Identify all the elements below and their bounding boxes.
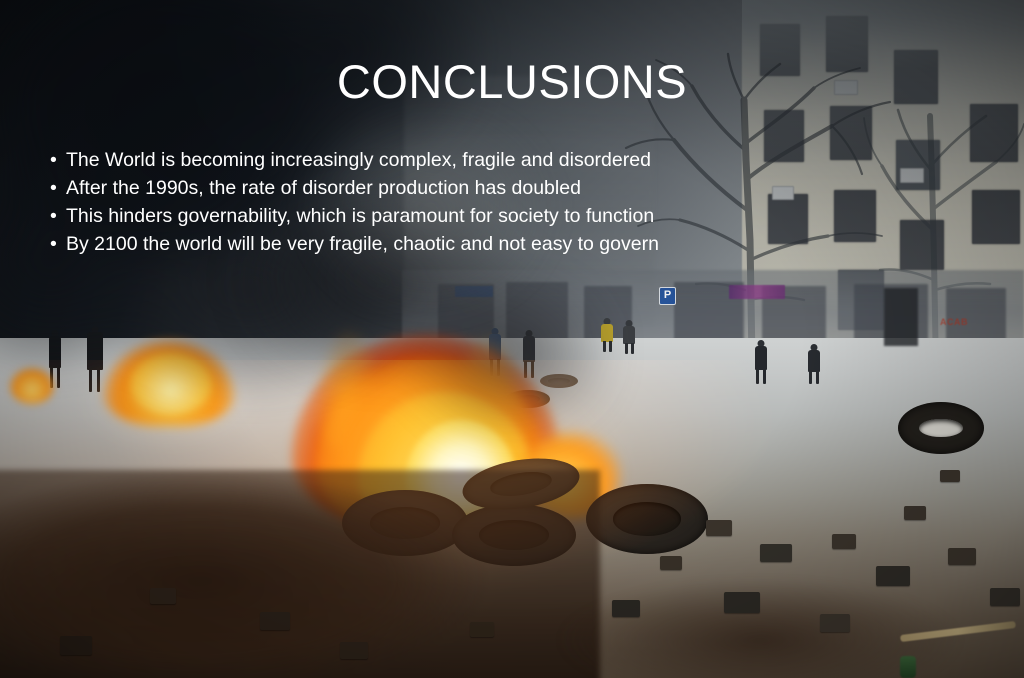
wooden-stick — [900, 621, 1016, 642]
person-silhouette — [46, 330, 64, 388]
secondary-fire-glow — [60, 330, 320, 470]
flame-core — [406, 420, 516, 516]
bullet-list: The World is becoming increasingly compl… — [46, 146, 786, 258]
tire — [154, 390, 200, 410]
tire — [506, 390, 550, 408]
rubble — [990, 588, 1020, 606]
bullet-item: This hinders governability, which is par… — [46, 202, 786, 230]
rubble — [340, 642, 368, 659]
flame-outer — [292, 334, 560, 534]
tire — [452, 504, 576, 566]
shop-sign-magenta — [729, 285, 785, 299]
flame-mid — [316, 356, 546, 536]
building-window — [830, 106, 872, 160]
presentation-slide: P ACAB — [0, 0, 1024, 678]
bare-tree-secondary — [848, 80, 1024, 370]
building-window — [834, 190, 876, 242]
rubble — [706, 520, 732, 536]
secondary-flame — [104, 340, 234, 426]
rubble — [904, 506, 926, 520]
parking-sign-icon: P — [659, 287, 676, 305]
person-silhouette — [622, 320, 636, 354]
main-fire-glow — [230, 300, 690, 630]
slide-title: CONCLUSIONS — [0, 58, 1024, 105]
shop-window — [946, 288, 1006, 342]
graffiti-text: ACAB — [940, 318, 974, 344]
building-window — [900, 220, 944, 270]
rubble — [150, 588, 176, 604]
shopfront-row — [402, 270, 1024, 362]
flame-inner — [358, 392, 534, 534]
flame-tongue-right — [452, 336, 524, 466]
person-silhouette — [752, 340, 770, 384]
person-silhouette — [600, 318, 614, 352]
tire — [540, 374, 578, 388]
snow-ground — [0, 338, 1024, 678]
rubble — [948, 548, 976, 565]
person-silhouette — [84, 326, 106, 392]
glass-bottle — [900, 656, 916, 678]
rubble — [760, 544, 792, 562]
rubble — [820, 614, 850, 632]
shop-sign-blue — [455, 286, 493, 297]
building-window — [896, 140, 940, 190]
rubble — [724, 592, 760, 613]
tire — [898, 402, 984, 454]
rubble — [660, 556, 682, 570]
mud-patch — [0, 470, 600, 678]
building-entrance — [838, 270, 884, 330]
rubble — [60, 636, 92, 655]
firelight-ground-wash — [0, 360, 1024, 678]
building-window — [970, 104, 1018, 162]
tire — [586, 484, 708, 554]
tire — [342, 490, 468, 556]
bullet-item: After the 1990s, the rate of disorder pr… — [46, 174, 786, 202]
shop-window — [584, 286, 632, 342]
shop-window — [438, 284, 494, 342]
flame-tongue-left — [318, 330, 380, 450]
person-silhouette — [520, 330, 538, 378]
shop-window — [674, 282, 744, 344]
rubble — [876, 566, 910, 586]
flame-right-lobe — [524, 432, 620, 518]
rubble — [612, 600, 640, 617]
rubble — [832, 534, 856, 549]
person-silhouette — [486, 328, 504, 376]
secondary-flame-core — [130, 352, 212, 414]
bullet-item: By 2100 the world will be very fragile, … — [46, 230, 786, 258]
bullet-item: The World is becoming increasingly compl… — [46, 146, 786, 174]
shop-window — [854, 284, 928, 344]
doorway — [884, 288, 918, 346]
tire — [459, 451, 583, 517]
shop-window — [762, 286, 826, 344]
air-conditioner-unit — [900, 168, 924, 183]
rubble — [470, 622, 494, 637]
mud-patch — [560, 560, 1024, 678]
small-flame — [10, 368, 54, 404]
rubble — [940, 470, 960, 482]
building-window — [972, 190, 1020, 244]
person-silhouette — [806, 344, 822, 384]
shop-window — [506, 282, 568, 344]
rubble — [260, 612, 290, 630]
